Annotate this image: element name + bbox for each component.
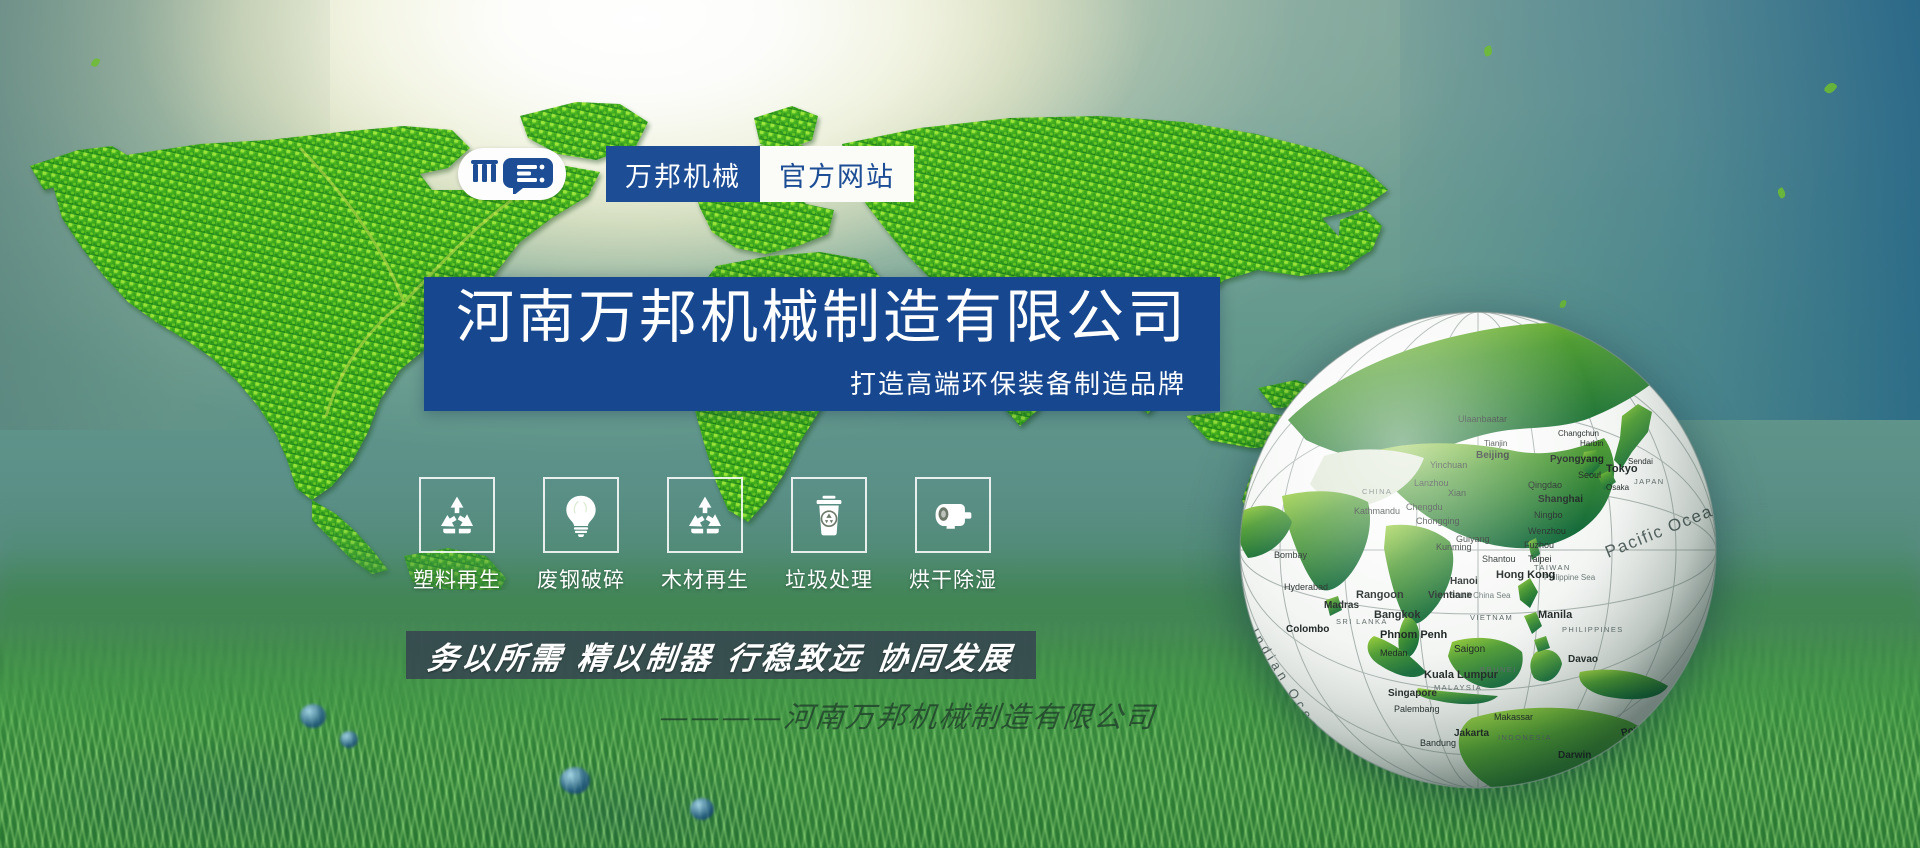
service-item-drying-dehumidifying[interactable]: 烘干除湿 [914, 477, 992, 594]
service-label: 木材再生 [661, 564, 749, 594]
service-icon-frame [419, 477, 495, 553]
service-item-wood-recycling[interactable]: 木材再生 [666, 477, 744, 594]
service-icon-frame [791, 477, 867, 553]
service-label: 烘干除湿 [909, 564, 997, 594]
blower-dryer-icon [931, 493, 975, 537]
service-icon-frame [543, 477, 619, 553]
site-header: 万邦机械 官方网站 [458, 146, 914, 202]
trash-bin-icon [807, 493, 851, 537]
service-icon-frame [915, 477, 991, 553]
service-label: 废钢破碎 [537, 564, 625, 594]
company-tagline: 打造高端环保装备制造品牌 [424, 364, 1220, 401]
slogan-banner: 务以所需 精以制器 行稳致远 协同发展 [406, 631, 1036, 679]
header-tab-group: 万邦机械 官方网站 [606, 146, 914, 202]
dew-drop [560, 767, 590, 794]
hero-banner: 万邦机械 官方网站 河南万邦机械制造有限公司 打造高端环保装备制造品牌 [0, 0, 1920, 848]
service-item-plastic-recycling[interactable]: 塑料再生 [418, 477, 496, 594]
service-icon-frame [667, 477, 743, 553]
wanbang-wb-logo-icon[interactable] [458, 148, 566, 200]
service-label: 塑料再生 [413, 564, 501, 594]
dew-drop [300, 704, 326, 728]
dew-drop [340, 731, 358, 748]
service-item-scrap-steel-crushing[interactable]: 废钢破碎 [542, 477, 620, 594]
tab-brand-name[interactable]: 万邦机械 [606, 146, 760, 202]
service-icon-row: 塑料再生 废钢破碎 [418, 477, 992, 594]
slogan-text: 务以所需 精以制器 行稳致远 协同发展 [426, 633, 1017, 678]
slogan-signature: ————河南万邦机械制造有限公司 [658, 694, 1158, 736]
lightbulb-icon [559, 493, 603, 537]
recycle-icon [683, 493, 727, 537]
hero-title-panel: 河南万邦机械制造有限公司 打造高端环保装备制造品牌 [424, 277, 1220, 411]
company-name: 河南万邦机械制造有限公司 [424, 288, 1220, 346]
recycle-icon [435, 493, 479, 537]
tab-official-site[interactable]: 官方网站 [760, 146, 914, 202]
earth-globe: Pacific Ocean Indian Ocean South China S… [1228, 300, 1728, 800]
service-item-waste-treatment[interactable]: 垃圾处理 [790, 477, 868, 594]
service-label: 垃圾处理 [785, 564, 873, 594]
dew-drop [690, 798, 714, 820]
